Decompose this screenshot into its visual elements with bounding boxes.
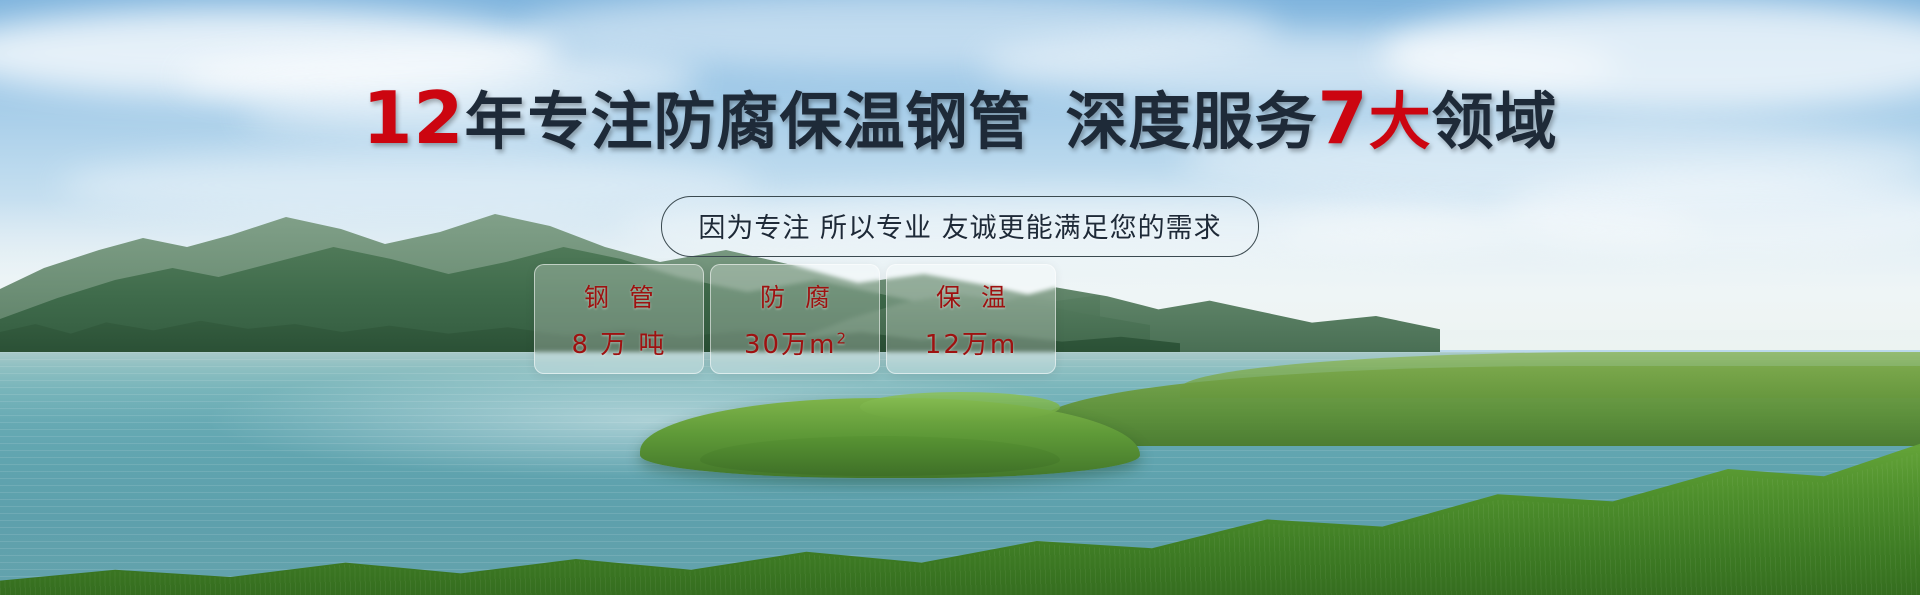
stat-card-insulation[interactable]: 保 温 12万m: [886, 264, 1056, 374]
hero-banner: 12年专注防腐保温钢管深度服务7大领域 因为专注 所以专业 友诚更能满足您的需求…: [0, 0, 1920, 595]
headline-part-two: 深度服务: [1066, 85, 1318, 158]
headline-part-one: 年专注防腐保温钢管: [465, 85, 1032, 158]
stat-card-value-text: 30万m: [744, 330, 836, 360]
banner-content: 12年专注防腐保温钢管深度服务7大领域 因为专注 所以专业 友诚更能满足您的需求…: [0, 0, 1920, 595]
stat-card-anticorrosion[interactable]: 防 腐 30万m2: [710, 264, 880, 374]
headline-fields-unit: 大: [1369, 85, 1432, 158]
stat-card-value-text: 12万m: [925, 330, 1017, 360]
headline-fields-number: 7: [1318, 76, 1369, 160]
stat-card-steel-pipe[interactable]: 钢 管 8 万 吨: [534, 264, 704, 374]
headline-part-three: 领域: [1432, 85, 1558, 158]
stat-card-value-exponent: 2: [836, 329, 846, 347]
stat-card-title: 防 腐: [754, 278, 836, 314]
stat-card-value: 12万m: [925, 324, 1017, 361]
stat-card-value: 30万m2: [744, 324, 846, 361]
banner-headline: 12年专注防腐保温钢管深度服务7大领域: [0, 82, 1920, 154]
banner-subtitle: 因为专注 所以专业 友诚更能满足您的需求: [661, 196, 1258, 257]
stat-card-title: 钢 管: [578, 278, 660, 314]
stat-card-value: 8 万 吨: [571, 324, 666, 361]
headline-years-number: 12: [362, 76, 464, 160]
stat-card-list: 钢 管 8 万 吨 防 腐 30万m2 保 温 12万m: [534, 264, 1056, 374]
stat-card-title: 保 温: [930, 278, 1012, 314]
banner-subtitle-wrap: 因为专注 所以专业 友诚更能满足您的需求: [0, 196, 1920, 257]
stat-card-value-text: 8 万 吨: [571, 330, 666, 360]
